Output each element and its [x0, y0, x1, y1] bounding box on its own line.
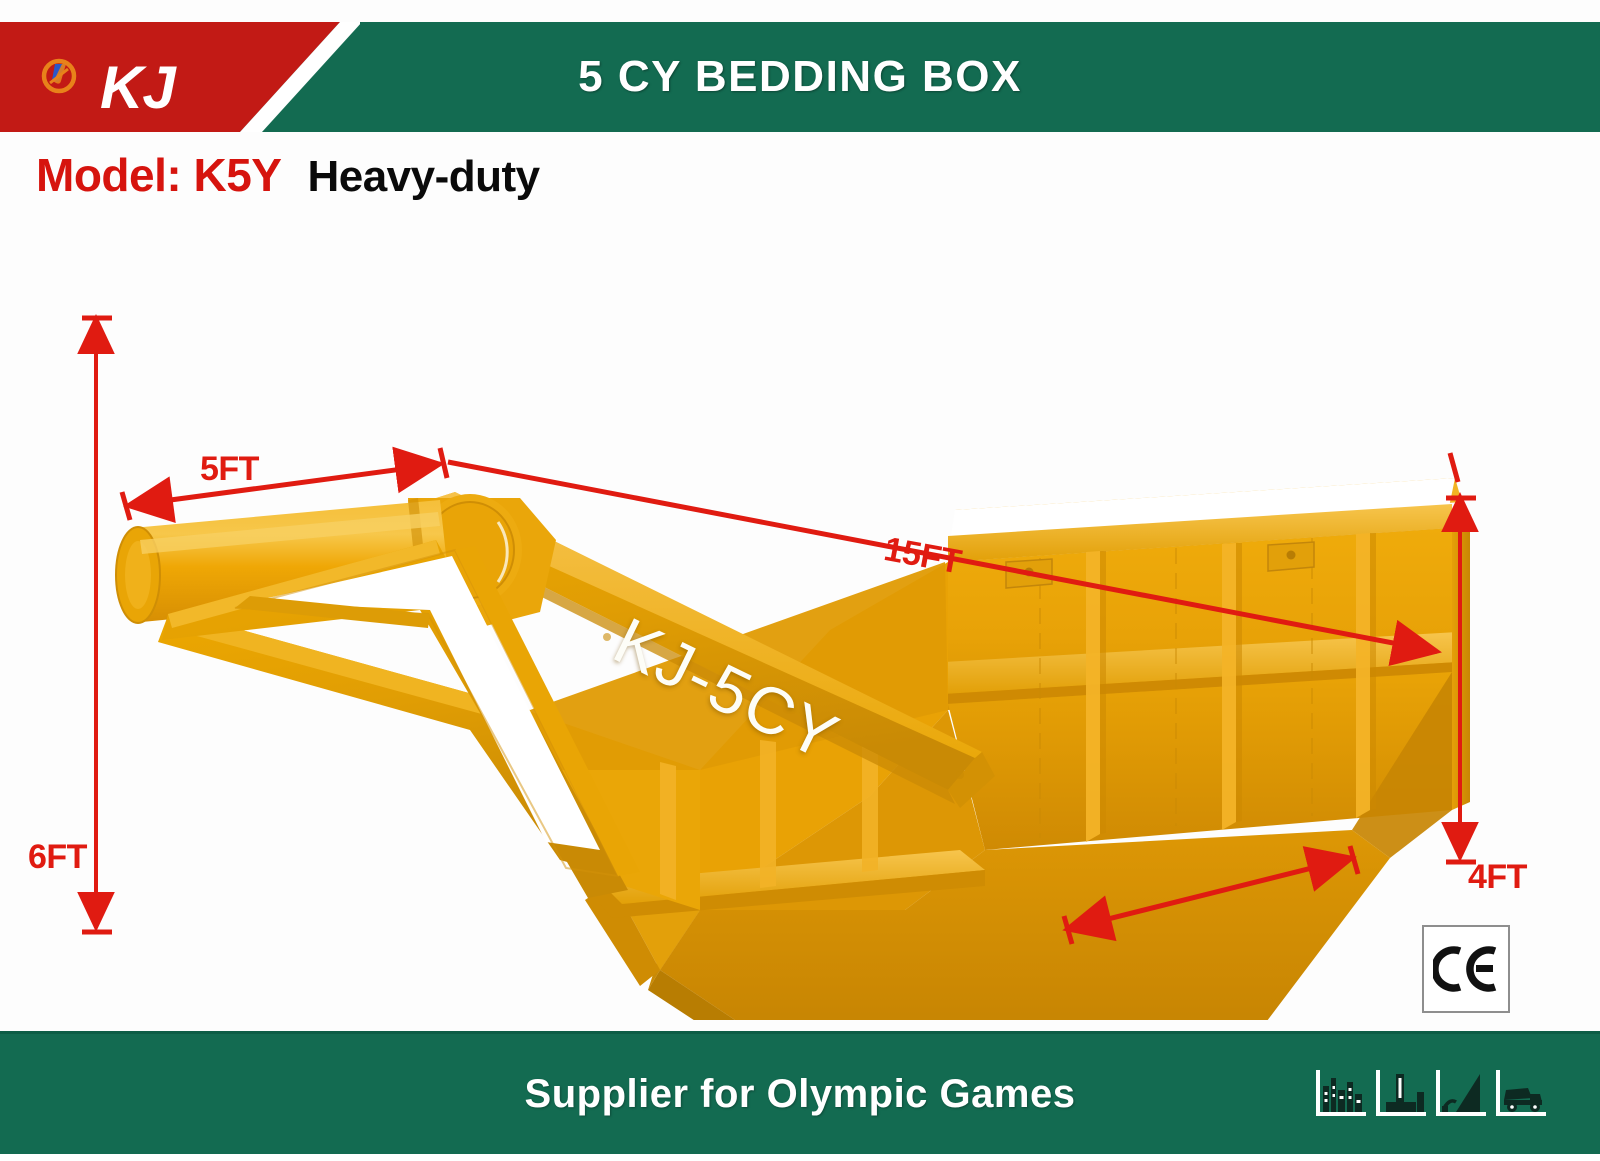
- tower-crane-icon: [1374, 1068, 1428, 1118]
- product-drawing: [0, 210, 1600, 1020]
- page-title: 5 CY BEDDING BOX: [0, 22, 1600, 132]
- dump-truck-icon: [1494, 1068, 1548, 1118]
- factory-skyline-icon: [1314, 1068, 1368, 1118]
- dimension-label-box-height: 4FT: [1468, 858, 1527, 897]
- dimension-label-arm-length: 5FT: [200, 450, 259, 489]
- spec-sheet: 5 CY BEDDING BOX KJ Model: K5Y Heavy-dut…: [0, 0, 1600, 1151]
- ce-mark: [1422, 925, 1510, 1013]
- duty-label: Heavy-duty: [307, 152, 539, 202]
- product-illustration: 5FT 15FT 6FT 4FT 4FT KJ-5CY: [0, 210, 1600, 1020]
- footer-icon-group: [1314, 1068, 1548, 1118]
- model-label: Model: K5Y: [36, 148, 281, 202]
- model-line: Model: K5Y Heavy-duty: [36, 148, 540, 202]
- footer-bar: Supplier for Olympic Games: [0, 1031, 1600, 1154]
- brand-logo-text: KJ: [100, 58, 175, 118]
- dam-mountain-icon: [1434, 1068, 1488, 1118]
- dimension-label-overall-height: 6FT: [28, 838, 87, 877]
- header-bar: 5 CY BEDDING BOX KJ: [0, 22, 1600, 132]
- kj-emblem-icon: [38, 55, 80, 97]
- ce-mark-icon: [1433, 945, 1499, 993]
